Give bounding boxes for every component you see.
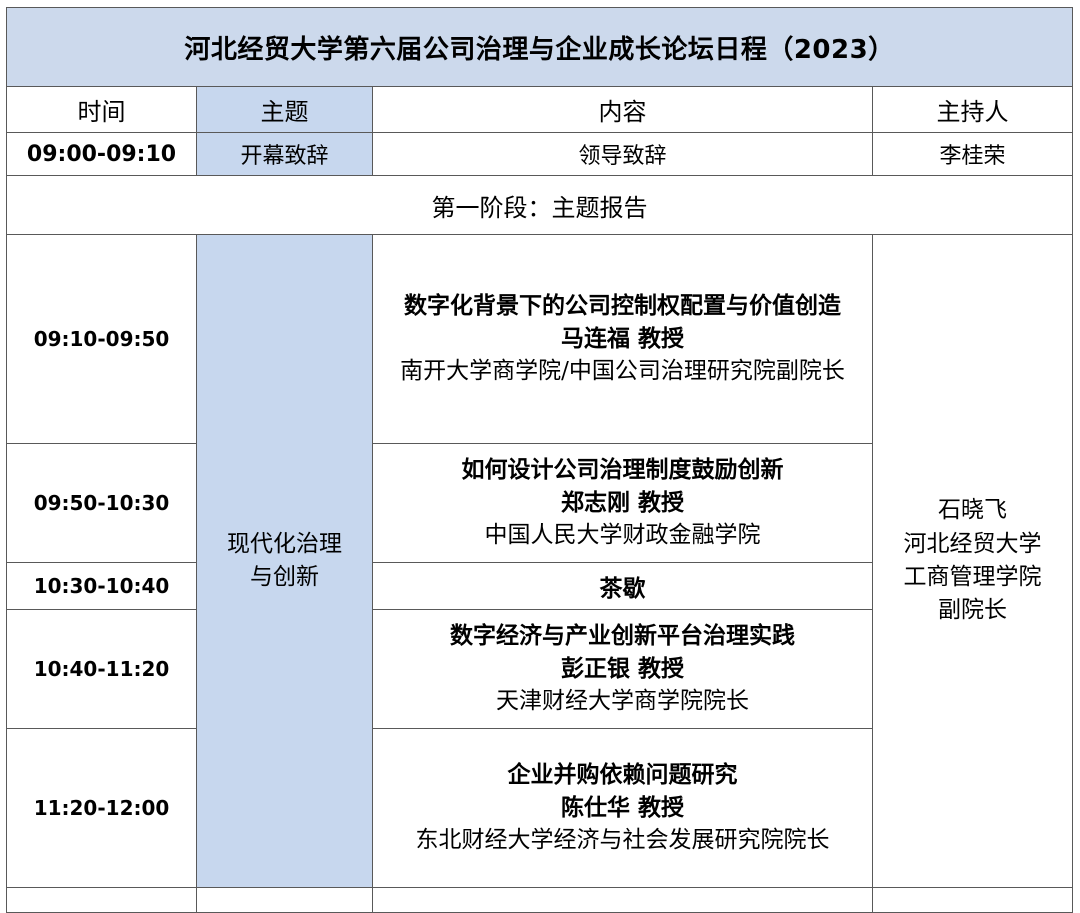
agenda-table: 河北经贸大学第六届公司治理与企业成长论坛日程（2023） 时间 主题 内容 主持… [6,7,1073,913]
session-affiliation: 天津财经大学商学院院长 [373,685,872,718]
session-content: 数字化背景下的公司控制权配置与价值创造 马连福 教授 南开大学商学院/中国公司治… [373,235,873,444]
session-speaker: 马连福 教授 [373,323,872,356]
table-row: 09:00-09:10 开幕致辞 领导致辞 李桂荣 [7,133,1073,176]
partial-time-cell [7,888,197,913]
agenda-sheet: 河北经贸大学第六届公司治理与企业成长论坛日程（2023） 时间 主题 内容 主持… [0,0,1080,905]
session-content: 茶歇 [373,563,873,610]
column-header-content: 内容 [373,87,873,133]
session-affiliation: 南开大学商学院/中国公司治理研究院副院长 [373,355,872,388]
session-time: 09:10-09:50 [7,235,197,444]
session-host-line-3: 工商管理学院 [904,564,1042,590]
partial-content-cell [373,888,873,913]
session-title: 企业并购依赖问题研究 [373,759,872,792]
session-content: 数字经济与产业创新平台治理实践 彭正银 教授 天津财经大学商学院院长 [373,610,873,729]
partial-theme-cell [197,888,373,913]
header-row: 时间 主题 内容 主持人 [7,87,1073,133]
session-time: 10:30-10:40 [7,563,197,610]
table-row: 09:10-09:50 现代化治理 与创新 数字化背景下的公司控制权配置与价值创… [7,235,1073,444]
opening-content: 领导致辞 [373,133,873,176]
session-speaker: 陈仕华 教授 [373,792,872,825]
title-row: 河北经贸大学第六届公司治理与企业成长论坛日程（2023） [7,8,1073,87]
session-title: 数字化背景下的公司控制权配置与价值创造 [373,290,872,323]
opening-host: 李桂荣 [873,133,1073,176]
session-host-line-1: 石晓飞 [938,497,1007,523]
session-theme-line-1: 现代化治理 [227,531,342,557]
opening-time: 09:00-09:10 [7,133,197,176]
session-title: 如何设计公司治理制度鼓励创新 [373,454,872,487]
session-theme: 现代化治理 与创新 [197,235,373,888]
partial-host-cell [873,888,1073,913]
column-header-host: 主持人 [873,87,1073,133]
session-speaker: 郑志刚 教授 [373,487,872,520]
opening-theme: 开幕致辞 [197,133,373,176]
table-row-partial [7,888,1073,913]
session-speaker: 彭正银 教授 [373,653,872,686]
session-time: 09:50-10:30 [7,444,197,563]
session-host: 石晓飞 河北经贸大学 工商管理学院 副院长 [873,235,1073,888]
session-time: 11:20-12:00 [7,729,197,888]
session-host-line-2: 河北经贸大学 [904,531,1042,557]
session-theme-line-2: 与创新 [250,564,319,590]
session-host-line-4: 副院长 [938,597,1007,623]
session-affiliation: 中国人民大学财政金融学院 [373,519,872,552]
session-affiliation: 东北财经大学经济与社会发展研究院院长 [373,824,872,857]
phase-row: 第一阶段：主题报告 [7,176,1073,235]
column-header-theme: 主题 [197,87,373,133]
session-title: 数字经济与产业创新平台治理实践 [373,620,872,653]
column-header-time: 时间 [7,87,197,133]
session-content: 如何设计公司治理制度鼓励创新 郑志刚 教授 中国人民大学财政金融学院 [373,444,873,563]
session-time: 10:40-11:20 [7,610,197,729]
session-content: 企业并购依赖问题研究 陈仕华 教授 东北财经大学经济与社会发展研究院院长 [373,729,873,888]
page-title: 河北经贸大学第六届公司治理与企业成长论坛日程（2023） [7,8,1073,87]
phase-label: 第一阶段：主题报告 [7,176,1073,235]
